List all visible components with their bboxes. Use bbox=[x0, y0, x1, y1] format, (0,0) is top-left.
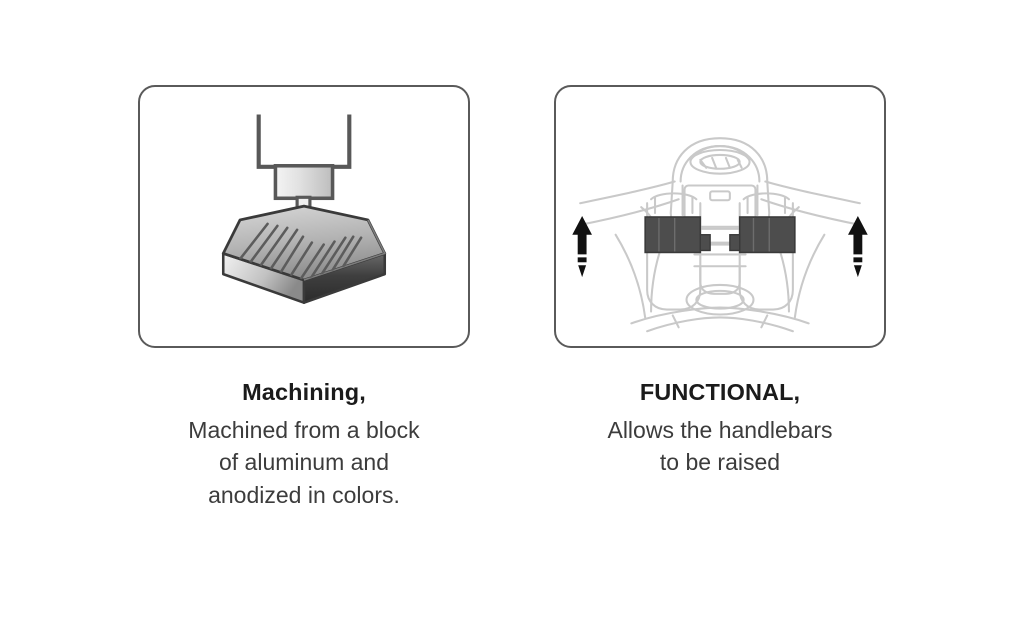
icon-panel-functional bbox=[554, 85, 886, 348]
body-line: anodized in colors. bbox=[208, 482, 400, 508]
workpiece-block bbox=[223, 206, 385, 303]
handlebar-riser-icon bbox=[556, 87, 884, 346]
feature-title-functional: FUNCTIONAL, bbox=[544, 379, 896, 407]
body-line: of aluminum and bbox=[219, 449, 389, 475]
caption-machining: Machining, Machined from a block of alum… bbox=[128, 379, 480, 512]
cnc-milling-icon bbox=[140, 87, 468, 346]
arrow-up-right-icon bbox=[848, 216, 868, 277]
feature-grid: Machining, Machined from a block of alum… bbox=[0, 0, 1024, 626]
feature-body-machining: Machined from a block of aluminum and an… bbox=[128, 414, 480, 512]
body-line: Allows the handlebars bbox=[607, 417, 832, 443]
body-line: to be raised bbox=[660, 449, 780, 475]
feature-column-machining: Machining, Machined from a block of alum… bbox=[96, 0, 512, 512]
riser-block-left bbox=[645, 217, 710, 252]
body-line: Machined from a block bbox=[188, 417, 419, 443]
caption-functional: FUNCTIONAL, Allows the handlebars to be … bbox=[544, 379, 896, 479]
icon-panel-machining bbox=[138, 85, 470, 348]
motorcycle-cockpit-outline bbox=[580, 138, 860, 331]
feature-body-functional: Allows the handlebars to be raised bbox=[544, 414, 896, 479]
tool-collet bbox=[275, 166, 332, 198]
spindle-housing bbox=[259, 117, 350, 167]
arrow-up-left-icon bbox=[572, 216, 592, 277]
feature-column-functional: FUNCTIONAL, Allows the handlebars to be … bbox=[512, 0, 928, 479]
riser-block-right bbox=[730, 217, 795, 252]
feature-title-machining: Machining, bbox=[128, 379, 480, 407]
